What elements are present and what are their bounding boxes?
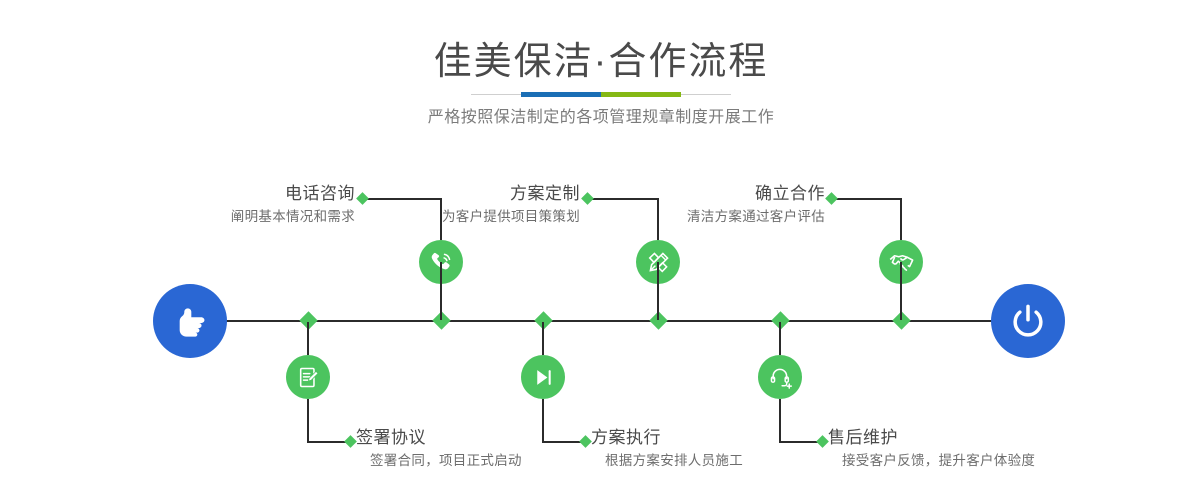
step-connector-2-riser [307,399,309,443]
step-icon-4[interactable] [521,355,565,399]
power-icon [1008,301,1048,341]
step-connector-6-riser [779,399,781,443]
step-connector-4-arm [542,441,584,443]
document-pencil-icon [296,365,321,390]
step-desc-2: 签署合同，项目正式启动 [356,450,522,472]
step-connector-1-stem [440,262,442,320]
step-desc-5: 清洁方案通过客户评估 [545,206,825,228]
step-connector-5-stem [900,262,902,320]
step-label-dot-5 [825,192,838,205]
step-label-2: 签署协议 签署合同，项目正式启动 [356,426,522,472]
step-icon-2[interactable] [286,355,330,399]
timeline-end-node[interactable] [991,284,1065,358]
step-desc-3: 为客户提供项目策策划 [300,206,580,228]
step-label-6: 售后维护 接受客户反馈，提升客户体验度 [828,426,1035,472]
step-label-dot-6 [816,435,829,448]
step-title-5: 确立合作 [545,182,825,206]
process-flow-infographic: 佳美保洁·合作流程 严格按照保洁制定的各项管理规章制度开展工作 [0,0,1202,502]
step-icon-6[interactable] [758,355,802,399]
step-title-4: 方案执行 [591,426,743,450]
step-desc-4: 根据方案安排人员施工 [591,450,743,472]
step-connector-2-arm [307,441,349,443]
step-connector-3-stem [657,262,659,320]
title-divider [471,92,731,97]
step-desc-6: 接受客户反馈，提升客户体验度 [828,450,1035,472]
play-execute-icon [531,365,556,390]
step-label-5: 确立合作 清洁方案通过客户评估 [545,182,825,228]
step-connector-4-stem [542,322,544,355]
step-label-4: 方案执行 根据方案安排人员施工 [591,426,743,472]
divider-segment-blue [521,92,601,97]
step-label-3: 方案定制 为客户提供项目策策划 [300,182,580,228]
step-label-dot-2 [344,435,357,448]
step-connector-6-arm [779,441,821,443]
divider-segment-green [601,92,681,97]
header: 佳美保洁·合作流程 严格按照保洁制定的各项管理规章制度开展工作 [0,0,1202,150]
step-title-2: 签署协议 [356,426,522,450]
step-title-3: 方案定制 [300,182,580,206]
pointing-hand-icon [169,300,211,342]
page-title: 佳美保洁·合作流程 [0,38,1202,86]
step-connector-2-stem [307,322,309,355]
step-label-dot-4 [579,435,592,448]
timeline: 电话咨询 阐明基本情况和需求 签署协议 签署合同，项目正式启动 [0,150,1202,502]
headset-support-icon [768,365,793,390]
step-connector-6-stem [779,322,781,355]
step-connector-4-riser [542,399,544,443]
page-subtitle: 严格按照保洁制定的各项管理规章制度开展工作 [0,106,1202,130]
step-connector-5-riser [900,198,902,240]
step-title-6: 售后维护 [828,426,1035,450]
timeline-start-node[interactable] [153,284,227,358]
step-connector-5-arm [831,198,901,200]
